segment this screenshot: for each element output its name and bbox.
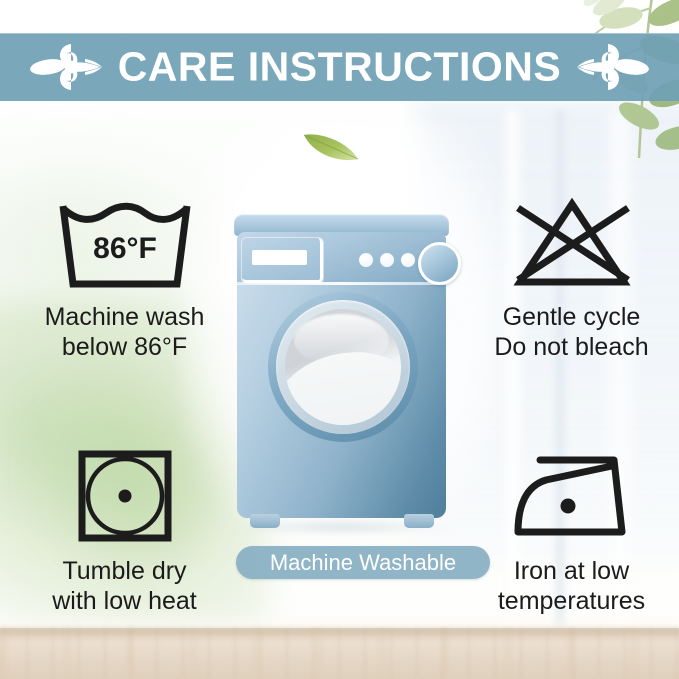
- wash-temperature-value: 86°F: [93, 232, 157, 265]
- machine-washable-badge: Machine Washable: [236, 546, 490, 579]
- instruction-caption: Tumble dry with low heat: [52, 557, 197, 616]
- instruction-tumble-dry: Tumble dry with low heat: [17, 446, 232, 616]
- fleur-de-lis-ornament-right-icon: [575, 41, 649, 93]
- badge-label: Machine Washable: [270, 552, 456, 574]
- washer-indicator-dot: [380, 253, 394, 267]
- instruction-caption: Iron at low temperatures: [498, 557, 645, 616]
- iron-low-temp-icon: [502, 446, 642, 551]
- wash-basin-icon: 86°F: [49, 196, 201, 297]
- washer-indicator-dot: [401, 253, 415, 267]
- instruction-machine-wash: 86°F Machine wash below 86°F: [17, 196, 232, 362]
- instruction-do-not-bleach: Gentle cycle Do not bleach: [464, 196, 679, 362]
- instruction-iron-low: Iron at low temperatures: [464, 446, 679, 616]
- washer-panel-divider: [237, 282, 446, 285]
- tumble-dry-low-icon: [72, 446, 178, 551]
- care-instructions-infographic: CARE INSTRUCTIONS 86°F: [0, 0, 679, 679]
- crossed-triangle-bleach-icon: [496, 196, 648, 297]
- header-banner: CARE INSTRUCTIONS: [0, 33, 679, 101]
- washer-foot: [404, 514, 434, 528]
- washer-program-knob: [418, 242, 461, 285]
- table-edge-shadow: [0, 628, 679, 636]
- washer-drawer-slot: [252, 250, 307, 265]
- instruction-caption: Machine wash below 86°F: [45, 303, 205, 362]
- washer-foot: [250, 514, 280, 528]
- green-leaf-icon: [298, 126, 364, 168]
- instruction-caption: Gentle cycle Do not bleach: [494, 303, 648, 362]
- washer-indicator-dot: [359, 253, 373, 267]
- washer-door-glare: [294, 314, 389, 366]
- washing-machine-illustration: [234, 214, 449, 526]
